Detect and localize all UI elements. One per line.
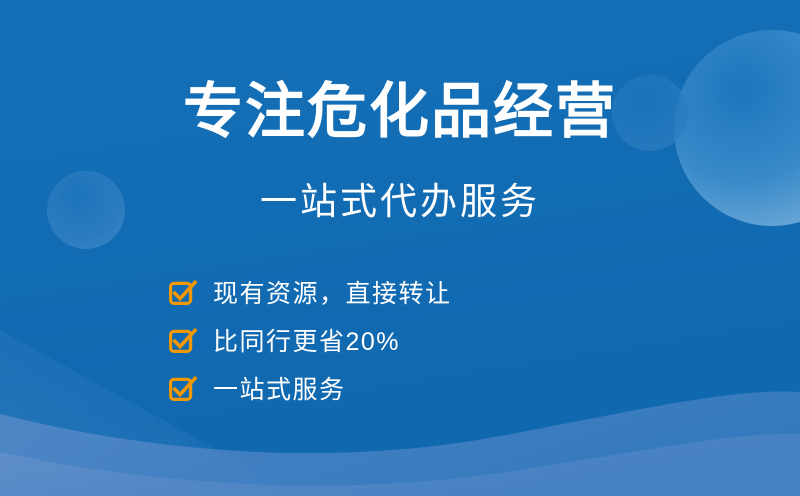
feature-label: 现有资源，直接转让 xyxy=(213,282,452,307)
checkbox-check-icon xyxy=(169,330,193,354)
banner-subheadline: 一站式代办服务 xyxy=(0,183,800,220)
feature-item: 一站式服务 xyxy=(169,373,452,407)
banner-content: 专注危化品经营 一站式代办服务 现有资源，直接转让 xyxy=(0,0,800,496)
banner-headline: 专注危化品经营 xyxy=(0,82,800,142)
feature-item: 现有资源，直接转让 xyxy=(169,277,452,311)
feature-label: 一站式服务 xyxy=(213,378,346,403)
feature-list: 现有资源，直接转让 比同行更省20% 一站式 xyxy=(169,277,452,407)
feature-item: 比同行更省20% xyxy=(169,325,452,359)
checkbox-check-icon xyxy=(169,282,193,306)
checkbox-check-icon xyxy=(169,378,193,402)
feature-label: 比同行更省20% xyxy=(213,330,400,355)
promo-banner: 专注危化品经营 一站式代办服务 现有资源，直接转让 xyxy=(0,0,800,496)
